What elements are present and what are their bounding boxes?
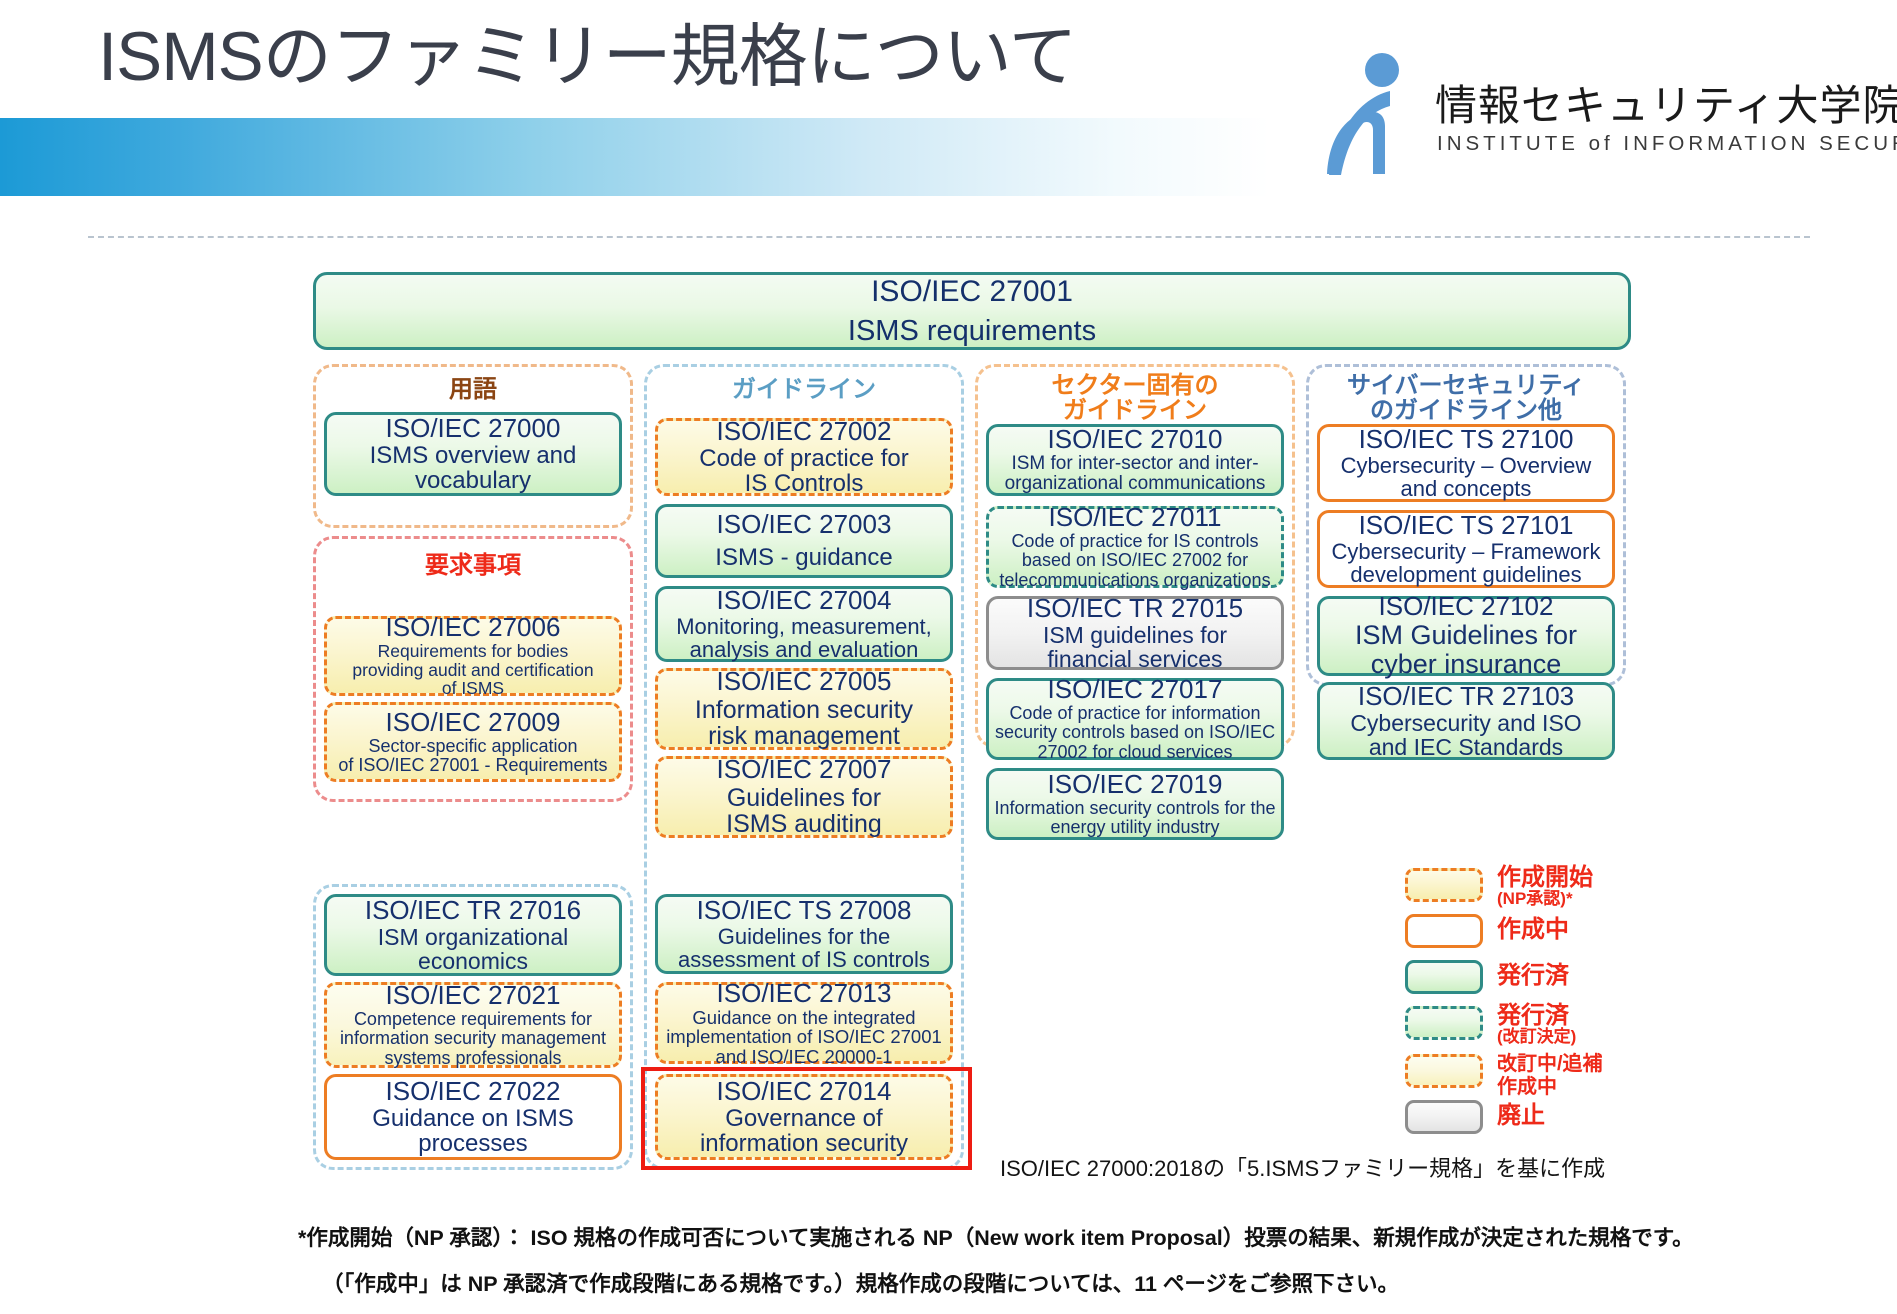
legend-label-line2: (改訂決定) [1497,1028,1576,1045]
column-header-guideline: ガイドライン [647,377,961,402]
standard-code: ISO/IEC 27013 [717,980,892,1007]
standard-desc: ISM guidelines for financial services [1043,623,1227,672]
legend: 作成開始 (NP承認)* 作成中 発行済 発行済 (改訂決定) [1405,868,1685,1138]
highlight-frame-27014 [641,1067,972,1170]
standard-desc: Cybersecurity – Framework development gu… [1332,540,1601,587]
standard-desc: Guidance on ISMS processes [372,1106,573,1157]
standard-desc: ISMS requirements [848,315,1096,348]
standard-box-27016: ISO/IEC TR 27016 ISM organizational econ… [324,894,622,976]
legend-label-line1: 廃止 [1497,1104,1545,1128]
footnote-line-2: （「作成中」は NP 承認済で作成段階にある規格です。）規格作成の段階については… [322,1274,1868,1296]
legend-label-withdrawn: 廃止 [1497,1104,1545,1128]
standard-box-27015: ISO/IEC TR 27015 ISM guidelines for fina… [986,596,1284,670]
standard-code: ISO/IEC TS 27008 [697,897,912,924]
standard-code: ISO/IEC 27009 [386,709,561,736]
legend-label-published: 発行済 [1497,964,1569,988]
standard-desc: Cybersecurity and ISO and IEC Standards [1350,711,1581,760]
standard-box-27102: ISO/IEC 27102 ISM Guidelines for cyber i… [1317,596,1615,676]
standard-box-27100: ISO/IEC TS 27100 Cybersecurity – Overvie… [1317,424,1615,502]
standard-code: ISO/IEC 27001 [871,275,1073,309]
standard-code: ISO/IEC 27010 [1048,426,1223,453]
standard-desc: ISM organizational economics [378,925,569,974]
legend-label-line1: 発行済 [1497,1004,1576,1028]
legend-row-drafting: 作成中 [1405,914,1685,954]
legend-row-withdrawn: 廃止 [1405,1100,1685,1140]
standard-box-27007: ISO/IEC 27007 Guidelines for ISMS auditi… [655,756,953,838]
standard-desc: Information security controls for the en… [994,799,1275,837]
standard-box-27008: ISO/IEC TS 27008 Guidelines for the asse… [655,894,953,974]
footnote: *作成開始（NP 承認）： ISO 規格の作成可否について実施される NP（Ne… [298,1228,1868,1295]
standard-desc: Monitoring, measurement, analysis and ev… [676,615,932,662]
standard-box-27003: ISO/IEC 27003 ISMS - guidance [655,504,953,578]
standard-desc: ISM Guidelines for cyber insurance [1355,621,1577,678]
standard-code: ISO/IEC TR 27015 [1027,595,1243,622]
standard-desc: ISMS overview and vocabulary [370,443,577,494]
standard-desc: Code of practice for information securit… [995,704,1275,761]
standard-desc: ISMS - guidance [715,545,892,570]
source-note: ISO/IEC 27000:2018の「5.ISMSファミリー規格」を基に作成 [1000,1151,1605,1183]
standard-code: ISO/IEC 27007 [717,756,892,783]
legend-row-published: 発行済 [1405,960,1685,1000]
standard-code: ISO/IEC 27021 [386,982,561,1009]
standard-box-27013: ISO/IEC 27013 Guidance on the integrated… [655,982,953,1064]
standard-code: ISO/IEC TS 27101 [1359,512,1574,539]
standard-code: ISO/IEC 27011 [1049,504,1222,531]
legend-row-published-rev: 発行済 (改訂決定) [1405,1006,1685,1046]
standard-code: ISO/IEC 27006 [386,614,561,641]
legend-row-revising: 改訂中/追補 作成中 [1405,1054,1685,1094]
legend-label-line2: 作成中 [1497,1076,1603,1099]
legend-label-line1: 作成中 [1497,918,1569,942]
standard-box-27002: ISO/IEC 27002 Code of practice for IS Co… [655,418,953,496]
footnote-line-1: *作成開始（NP 承認）： ISO 規格の作成可否について実施される NP（Ne… [298,1228,1868,1250]
standard-code: ISO/IEC 27019 [1048,771,1223,798]
standard-code: ISO/IEC 27002 [717,418,892,445]
legend-swatch-revising [1405,1054,1483,1088]
standard-code: ISO/IEC TR 27103 [1358,683,1574,710]
legend-swatch-withdrawn [1405,1100,1483,1134]
column-header-sector: セクター固有の ガイドライン [978,373,1292,423]
isms-family-diagram: ISO/IEC 27001 ISMS requirements 用語 ガイドライ… [0,0,1897,1314]
column-header-youkyuu: 要求事項 [316,553,630,578]
legend-label-published-rev: 発行済 (改訂決定) [1497,1004,1576,1045]
standard-desc: Guidelines for ISMS auditing [726,785,882,838]
legend-swatch-published [1405,960,1483,994]
standard-code: ISO/IEC 27102 [1379,593,1554,620]
standard-code: ISO/IEC 27003 [717,511,892,538]
standard-box-27010: ISO/IEC 27010 ISM for inter-sector and i… [986,424,1284,496]
standard-code: ISO/IEC 27017 [1048,676,1223,703]
standard-desc: Cybersecurity – Overview and concepts [1341,454,1592,501]
standard-code: ISO/IEC 27004 [717,587,892,614]
legend-swatch-np [1405,868,1483,902]
legend-label-line1: 改訂中/追補 [1497,1053,1603,1076]
column-header-cyber: サイバーセキュリティ のガイドライン他 [1309,373,1623,423]
standard-box-27019: ISO/IEC 27019 Information security contr… [986,768,1284,840]
column-header-yougo: 用語 [316,377,630,402]
legend-swatch-published-rev [1405,1006,1483,1040]
standard-code: ISO/IEC TS 27100 [1359,426,1574,453]
standard-box-27022: ISO/IEC 27022 Guidance on ISMS processes [324,1074,622,1160]
standard-box-27006: ISO/IEC 27006 Requirements for bodies pr… [324,616,622,696]
standard-box-27001: ISO/IEC 27001 ISMS requirements [313,272,1631,350]
standard-box-27009: ISO/IEC 27009 Sector-specific applicatio… [324,702,622,782]
legend-label-revising: 改訂中/追補 作成中 [1497,1053,1603,1099]
legend-label-line1: 発行済 [1497,964,1569,988]
legend-label-np: 作成開始 (NP承認)* [1497,866,1593,907]
standard-code: ISO/IEC 27022 [386,1078,561,1105]
standard-code: ISO/IEC TR 27016 [365,897,581,924]
standard-desc: Requirements for bodies providing audit … [352,642,593,698]
legend-label-line2: (NP承認)* [1497,890,1593,907]
legend-row-np: 作成開始 (NP承認)* [1405,868,1685,908]
standard-box-27021: ISO/IEC 27021 Competence requirements fo… [324,982,622,1068]
standard-desc: Code of practice for IS Controls [699,446,908,497]
standard-box-27005: ISO/IEC 27005 Information security risk … [655,668,953,750]
standard-box-27101: ISO/IEC TS 27101 Cybersecurity – Framewo… [1317,510,1615,588]
standard-desc: Sector-specific application of ISO/IEC 2… [338,737,607,775]
standard-desc: ISM for inter-sector and inter- organiza… [1005,454,1266,494]
standard-desc: Information security risk management [695,697,913,750]
standard-box-27103: ISO/IEC TR 27103 Cybersecurity and ISO a… [1317,682,1615,760]
standard-box-27004: ISO/IEC 27004 Monitoring, measurement, a… [655,586,953,662]
standard-desc: Guidelines for the assessment of IS cont… [678,925,930,972]
standard-desc: Code of practice for IS controls based o… [999,532,1270,589]
standard-box-27000: ISO/IEC 27000 ISMS overview and vocabula… [324,412,622,496]
standard-box-27011: ISO/IEC 27011 Code of practice for IS co… [986,506,1284,588]
standard-desc: Competence requirements for information … [340,1010,606,1067]
standard-box-27017: ISO/IEC 27017 Code of practice for infor… [986,678,1284,760]
legend-swatch-drafting [1405,914,1483,948]
legend-label-line1: 作成開始 [1497,866,1593,890]
legend-label-drafting: 作成中 [1497,918,1569,942]
standard-code: ISO/IEC 27000 [386,415,561,442]
standard-desc: Guidance on the integrated implementatio… [666,1008,942,1067]
standard-code: ISO/IEC 27005 [717,668,892,695]
